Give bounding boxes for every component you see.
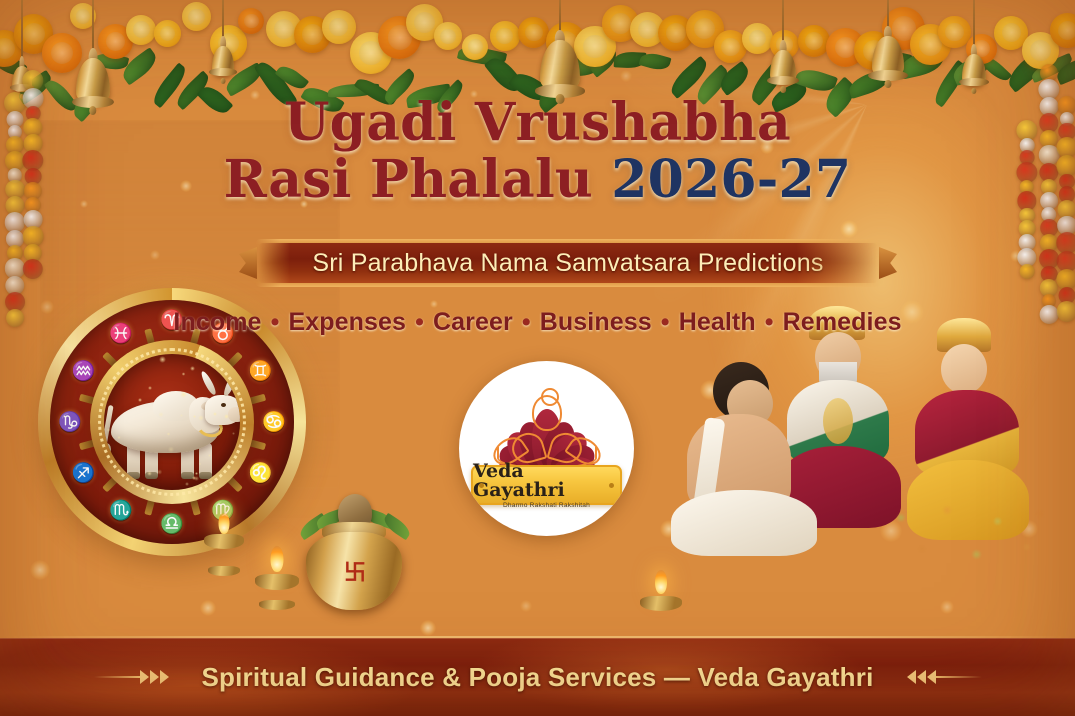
ugadi-poster: ♈♉♊♋♌♍♎♏♐♑♒♓	[0, 0, 1075, 716]
kalash-pot-icon: 卐	[300, 498, 410, 616]
logo-tagline-text: Dharmo Rakshati Rakshitah	[503, 502, 590, 509]
zodiac-sign-icon: ♋	[259, 407, 289, 437]
zodiac-sign-icon: ♊	[245, 356, 275, 386]
footer-text: Spiritual Guidance & Pooja Services — Ve…	[202, 662, 874, 693]
topic-separator: •	[513, 308, 540, 336]
topic-separator: •	[406, 308, 433, 336]
zodiac-sign-icon: ♑	[55, 407, 85, 437]
oil-lamp-icon	[640, 580, 682, 632]
brass-bell-icon	[540, 0, 580, 100]
topic-separator: •	[756, 308, 783, 336]
title-line-1: Ugadi Vrushabha	[0, 96, 1075, 149]
marigold-flower-icon	[322, 10, 356, 44]
priest-deities-puja-icon	[655, 300, 1075, 660]
marigold-flower-icon	[434, 22, 462, 50]
zodiac-sign-icon: ♏	[106, 495, 136, 525]
topic-item: Expenses	[288, 308, 406, 336]
marigold-flower-icon	[126, 15, 156, 45]
zodiac-sign-icon: ♐	[69, 458, 99, 488]
topic-item: Health	[679, 308, 756, 336]
veda-gayathri-logo: Veda Gayathri Dharmo Rakshati Rakshitah	[459, 361, 634, 536]
marigold-flower-icon	[182, 2, 211, 31]
topic-separator: •	[262, 308, 289, 336]
rangoli-decor	[859, 490, 1069, 582]
marigold-flower-icon	[490, 21, 520, 51]
subtitle-ribbon: Sri Parabhava Nama Samvatsara Prediction…	[255, 239, 881, 287]
zodiac-sign-icon: ♒	[69, 356, 99, 386]
brass-bell-icon	[212, 0, 234, 84]
title-line-2: Rasi Phalalu 2026-27	[0, 153, 1075, 206]
marigold-flower-icon	[462, 34, 488, 60]
oil-lamp-icon	[255, 556, 299, 612]
brass-bell-icon	[872, 0, 904, 86]
marigold-flower-icon	[742, 23, 773, 54]
ribbon-inner: Sri Parabhava Nama Samvatsara Prediction…	[259, 243, 877, 283]
title-line-2-text: Rasi Phalalu	[224, 149, 612, 210]
zodiac-sign-icon: ♌	[245, 458, 275, 488]
topic-item: Career	[433, 308, 513, 336]
ribbon-text: Sri Parabhava Nama Samvatsara Prediction…	[312, 249, 823, 278]
arrow-chevron-left-icon	[94, 668, 186, 686]
topic-separator: •	[652, 308, 679, 336]
marigold-flower-icon	[154, 20, 181, 47]
topic-item: Income	[173, 308, 261, 336]
oil-lamp-icon	[204, 520, 244, 582]
page-title: Ugadi Vrushabha Rasi Phalalu 2026-27	[0, 96, 1075, 206]
topic-item: Business	[540, 308, 652, 336]
brass-bell-icon	[770, 0, 796, 92]
logo-brand-text: Veda Gayathri	[473, 462, 620, 500]
arrow-chevron-right-icon	[890, 668, 982, 686]
zodiac-sign-icon: ♎	[157, 509, 187, 539]
footer-banner: Spiritual Guidance & Pooja Services — Ve…	[0, 638, 1075, 716]
topic-item: Remedies	[783, 308, 902, 336]
brass-bell-icon	[962, 0, 986, 94]
logo-nameplate: Veda Gayathri Dharmo Rakshati Rakshitah	[471, 465, 622, 505]
topics-list: Income • Expenses • Career • Business • …	[0, 308, 1075, 337]
year-badge: 2026-27	[611, 149, 851, 210]
swastika-icon: 卐	[344, 562, 366, 584]
taurus-bull-icon	[104, 371, 240, 479]
